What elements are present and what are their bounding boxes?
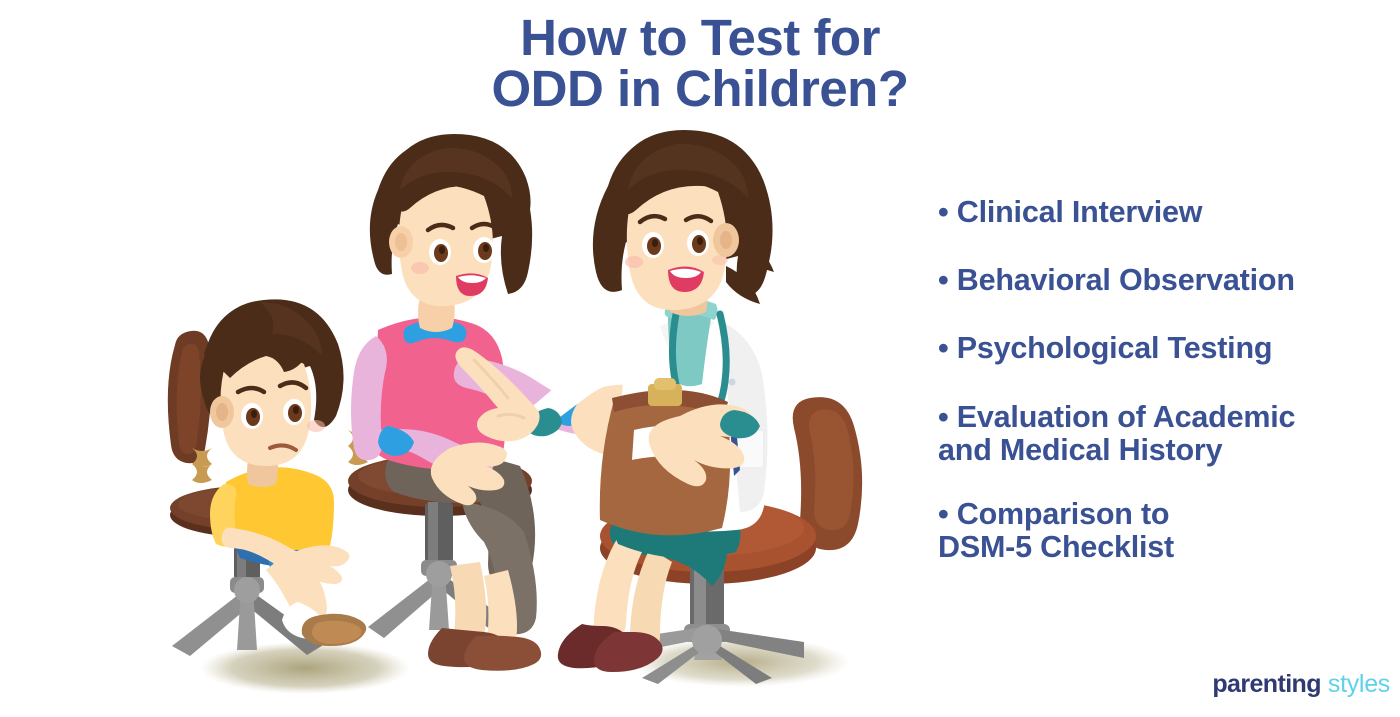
logo-word-parenting: parenting <box>1212 670 1321 699</box>
figure-boy <box>200 299 366 646</box>
logo-word-styles: styles <box>1328 670 1390 699</box>
list-item: • Comparison to DSM-5 Checklist <box>938 498 1358 564</box>
test-methods-list: • Clinical Interview • Behavioral Observ… <box>938 196 1358 565</box>
list-item: • Behavioral Observation <box>938 264 1358 297</box>
brand-logo: parenting styles <box>1212 670 1390 699</box>
list-item: • Evaluation of Academic and Medical His… <box>938 401 1358 467</box>
infographic-canvas: How to Test for ODD in Children? <box>0 0 1400 717</box>
list-item: • Clinical Interview <box>938 196 1358 229</box>
page-title: How to Test for ODD in Children? <box>380 12 1020 114</box>
illustration <box>120 130 920 700</box>
list-item: • Psychological Testing <box>938 332 1358 365</box>
